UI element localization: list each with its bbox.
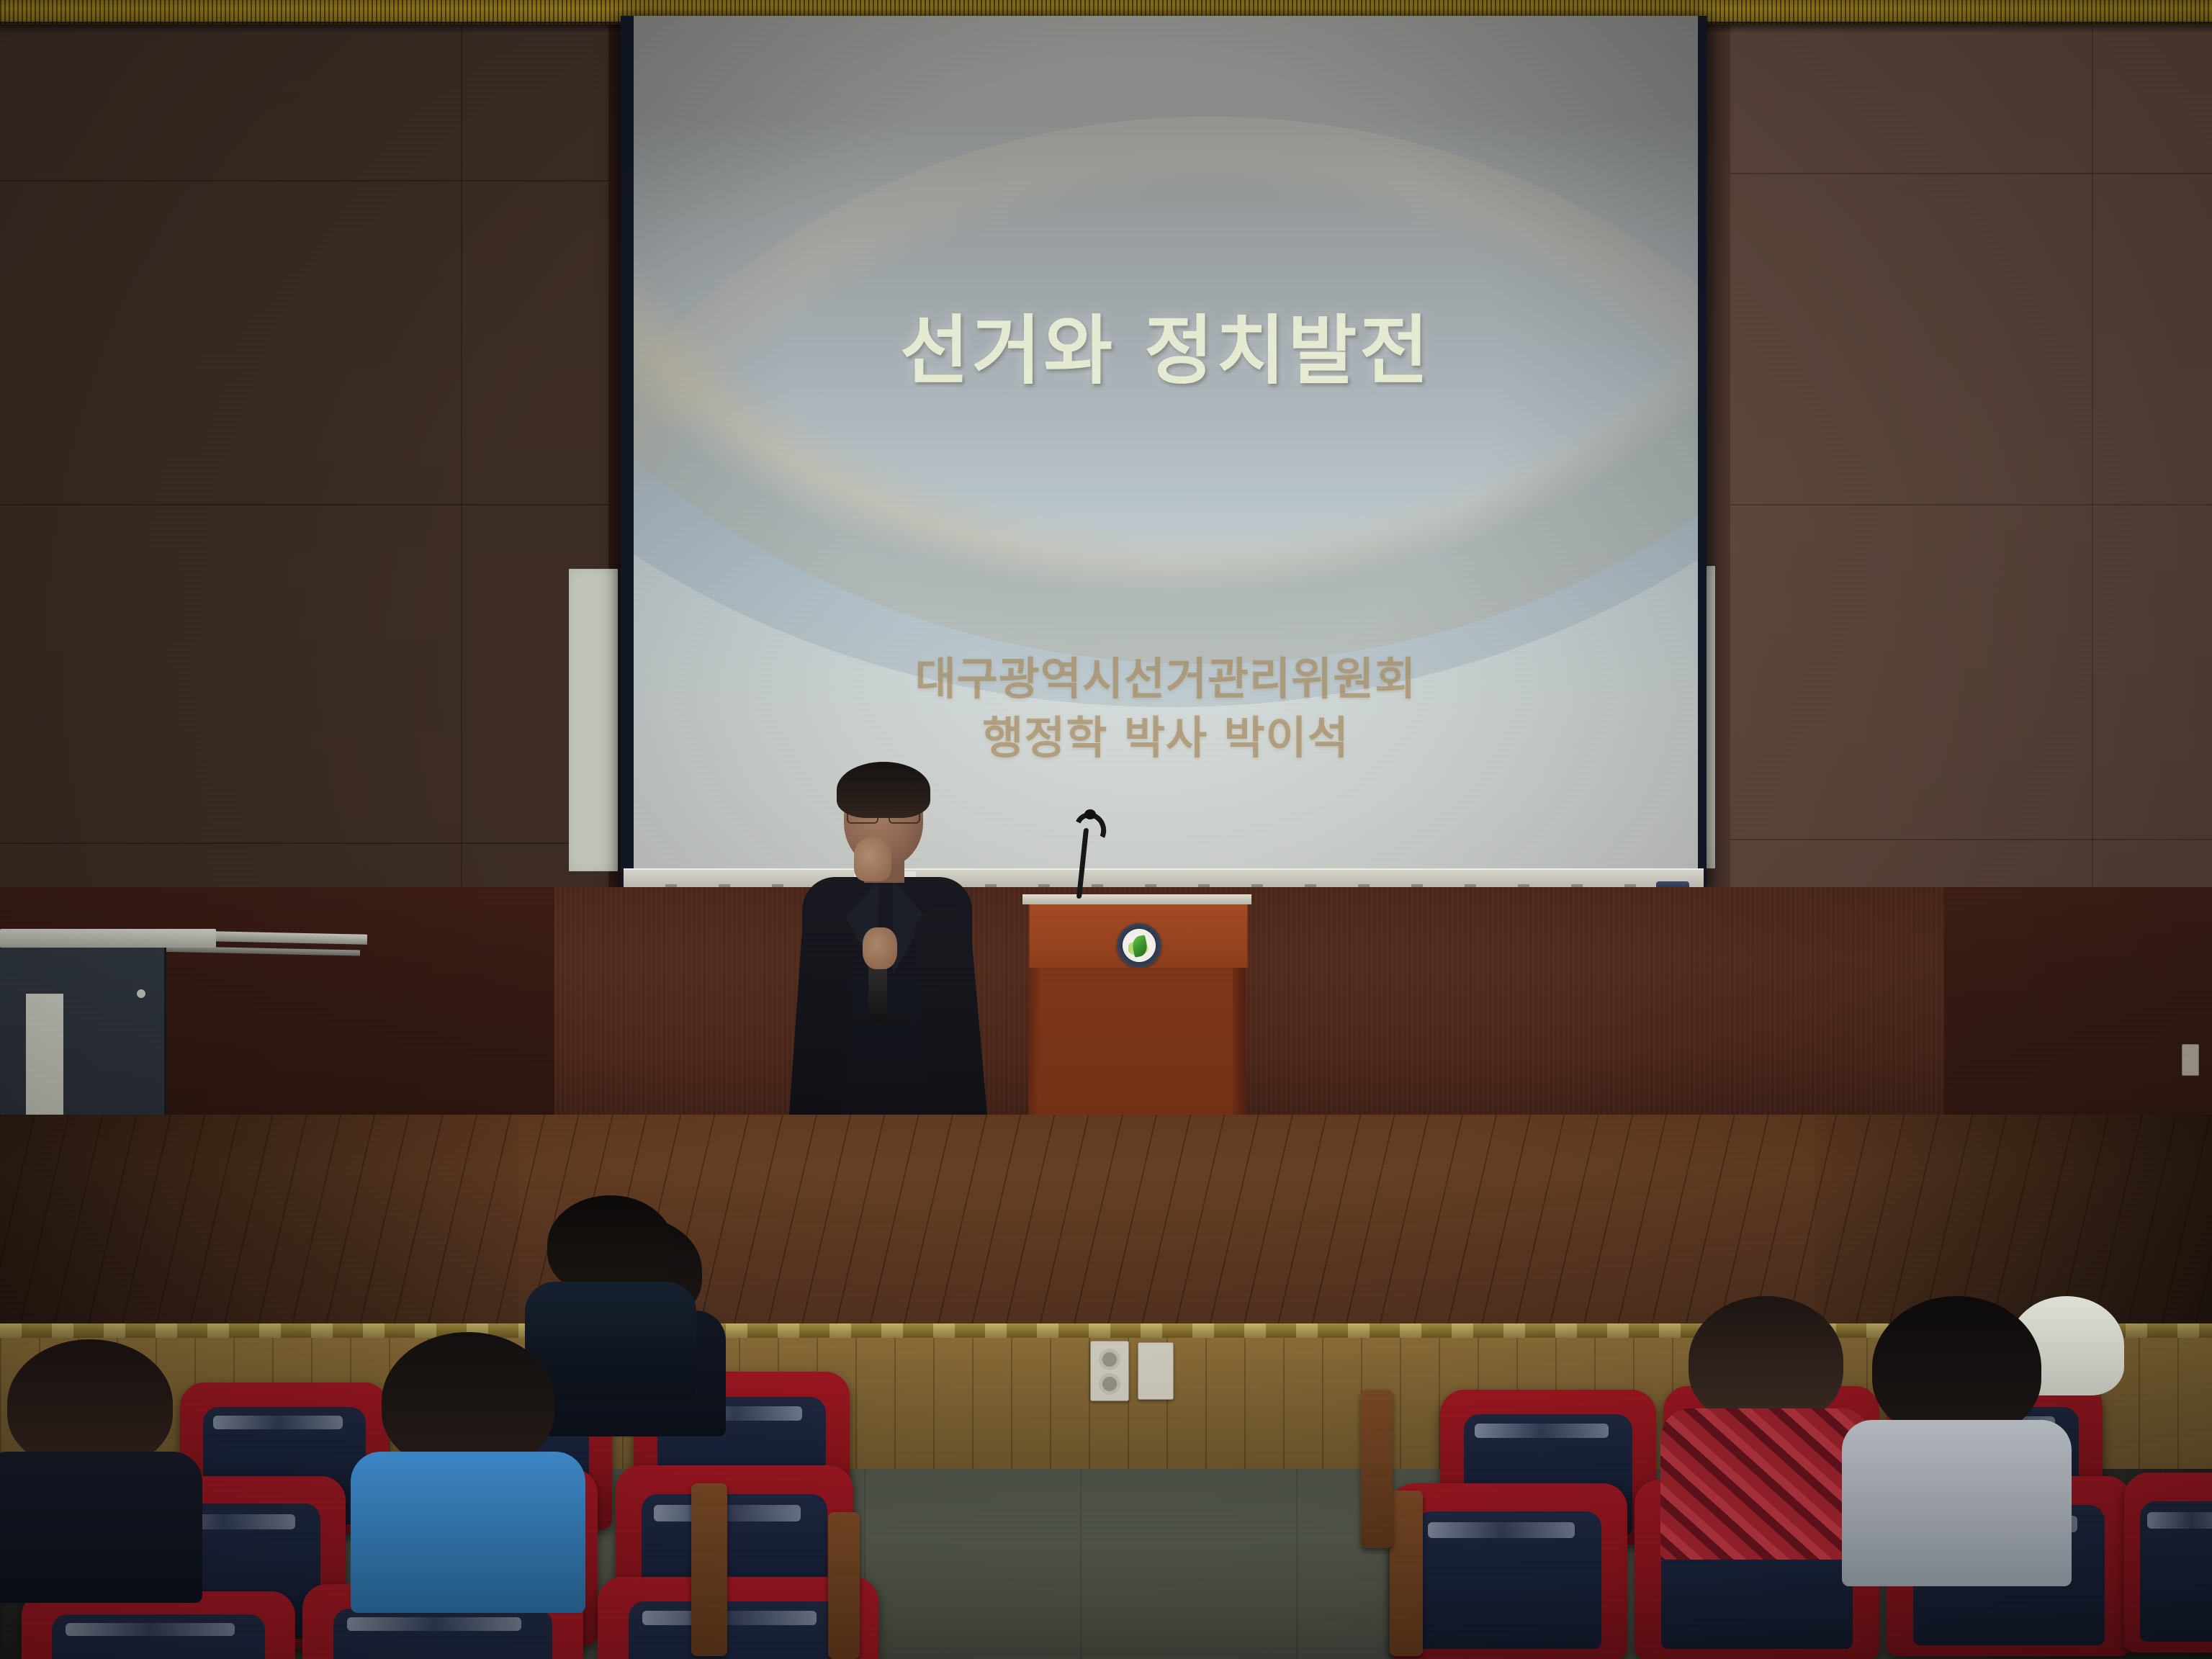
speaker-hand-holding-mic <box>863 927 897 969</box>
emblem-inner-disc <box>1124 930 1154 961</box>
seat[interactable] <box>1390 1483 1627 1659</box>
attendee-hair <box>1872 1296 2041 1439</box>
wall-seam <box>0 504 608 505</box>
gooseneck-capsule <box>1084 809 1096 819</box>
wall-panel-left <box>569 569 618 871</box>
armrest <box>828 1512 860 1659</box>
wall-outlet-right[interactable] <box>2182 1044 2199 1076</box>
attendee-hair <box>1689 1296 1843 1426</box>
seat-gloss <box>654 1505 801 1521</box>
list-item <box>382 1332 554 1563</box>
duplex-outlet[interactable] <box>1090 1341 1129 1401</box>
gooseneck-microphone[interactable] <box>1061 806 1105 899</box>
cart-top-surface <box>0 929 216 948</box>
seat-gloss <box>66 1623 235 1636</box>
blank-wall-plate[interactable] <box>1138 1342 1174 1400</box>
podium-head <box>1028 904 1249 968</box>
list-item <box>7 1339 173 1555</box>
seat-cushion <box>52 1614 265 1659</box>
seat[interactable] <box>2124 1473 2212 1653</box>
list-item <box>547 1195 673 1361</box>
armrest <box>691 1483 727 1656</box>
seat-gloss <box>1428 1522 1575 1538</box>
wall-seam <box>0 842 608 844</box>
attendee-hair <box>547 1195 673 1295</box>
attendee-plaid-shirt <box>1660 1408 1871 1560</box>
attendee-jacket <box>351 1452 585 1613</box>
seat-gloss <box>2147 1512 2212 1529</box>
cart-knob[interactable] <box>137 989 145 998</box>
seat-gloss <box>1475 1424 1609 1437</box>
lower-wall-shadow-right <box>1944 887 2212 1125</box>
attendee-hair <box>7 1339 173 1469</box>
outlet-socket-upper <box>1099 1349 1120 1370</box>
armrest <box>1361 1390 1393 1548</box>
list-item <box>1872 1296 2041 1534</box>
auditorium-scene: 선거와 정치발전 대구광역시선거관리위원회 행정학 박사 박이석 <box>0 0 2212 1659</box>
attendee-jacket <box>0 1452 202 1603</box>
slide-subtitle-org: 대구광역시선거관리위원회 <box>634 642 1698 707</box>
attendee-hair <box>382 1332 554 1470</box>
projection-screen: 선거와 정치발전 대구광역시선거관리위원회 행정학 박사 박이석 <box>634 16 1698 873</box>
green-leaf-seal-emblem <box>1117 923 1161 968</box>
podium-top-surface <box>1022 894 1251 904</box>
wall-seam <box>0 180 608 181</box>
attendee-gray-hoodie <box>1842 1420 2072 1586</box>
seat-gloss <box>642 1611 817 1624</box>
stage-shadow-left <box>0 1115 518 1331</box>
seat-gloss <box>347 1617 521 1631</box>
speaker-hand-at-face <box>854 838 891 881</box>
seat-gloss <box>213 1416 343 1429</box>
slide-title: 선거와 정치발전 <box>634 289 1698 398</box>
wall-seam <box>1728 173 2212 174</box>
wall-seam <box>1728 839 2212 840</box>
wall-seam <box>1728 504 2212 505</box>
glasses-icon <box>845 809 922 821</box>
list-item <box>1689 1296 1843 1512</box>
armrest <box>1390 1491 1423 1656</box>
seat-cushion <box>333 1609 552 1659</box>
outlet-socket-lower <box>1099 1373 1120 1395</box>
